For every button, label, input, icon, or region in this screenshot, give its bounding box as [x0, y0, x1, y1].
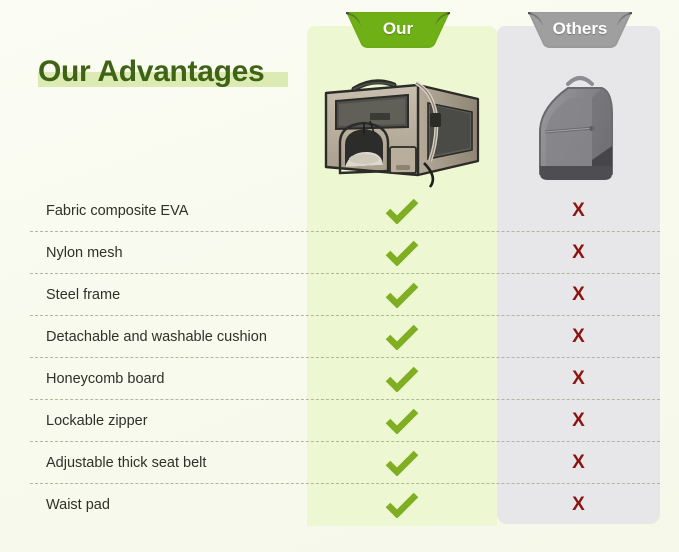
- page-title: Our Advantages: [38, 50, 264, 94]
- cell-our: [307, 400, 497, 442]
- feature-label: Steel frame: [46, 274, 120, 316]
- table-row-5: Lockable zipper X: [0, 400, 679, 442]
- table-row-4: Honeycomb board X: [0, 358, 679, 400]
- feature-label: Fabric composite EVA: [46, 190, 188, 232]
- cell-our: [307, 232, 497, 274]
- tab-our[interactable]: Our: [346, 12, 450, 48]
- check-icon: [385, 450, 419, 476]
- check-icon: [385, 366, 419, 392]
- product-image-others: [516, 62, 642, 190]
- cell-others: X: [497, 400, 660, 442]
- table-row-3: Detachable and washable cushion X: [0, 316, 679, 358]
- check-icon: [385, 198, 419, 224]
- cell-our: [307, 358, 497, 400]
- check-icon: [385, 324, 419, 350]
- tab-others[interactable]: Others: [528, 12, 632, 48]
- cell-others: X: [497, 484, 660, 526]
- cell-our: [307, 190, 497, 232]
- table-row-6: Adjustable thick seat belt X: [0, 442, 679, 484]
- feature-label: Lockable zipper: [46, 400, 148, 442]
- cell-others: X: [497, 274, 660, 316]
- check-icon: [385, 492, 419, 518]
- feature-rows: Fabric composite EVA X Nylon mesh X Stee…: [0, 190, 679, 526]
- table-row-7: Waist pad X: [0, 484, 679, 526]
- cell-our: [307, 484, 497, 526]
- page-title-text: Our Advantages: [38, 50, 264, 94]
- check-icon: [385, 240, 419, 266]
- cell-our: [307, 274, 497, 316]
- check-icon: [385, 408, 419, 434]
- cell-others: X: [497, 442, 660, 484]
- product-image-our: [312, 55, 492, 190]
- table-row-0: Fabric composite EVA X: [0, 190, 679, 232]
- feature-label: Detachable and washable cushion: [46, 316, 267, 358]
- feature-label: Honeycomb board: [46, 358, 165, 400]
- table-row-1: Nylon mesh X: [0, 232, 679, 274]
- cell-others: X: [497, 232, 660, 274]
- feature-label: Adjustable thick seat belt: [46, 442, 206, 484]
- cell-our: [307, 442, 497, 484]
- cell-our: [307, 316, 497, 358]
- feature-label: Waist pad: [46, 484, 110, 526]
- cell-others: X: [497, 316, 660, 358]
- comparison-chart-page: Our Advantages: [0, 0, 679, 552]
- cell-others: X: [497, 190, 660, 232]
- check-icon: [385, 282, 419, 308]
- cell-others: X: [497, 358, 660, 400]
- feature-label: Nylon mesh: [46, 232, 123, 274]
- table-row-2: Steel frame X: [0, 274, 679, 316]
